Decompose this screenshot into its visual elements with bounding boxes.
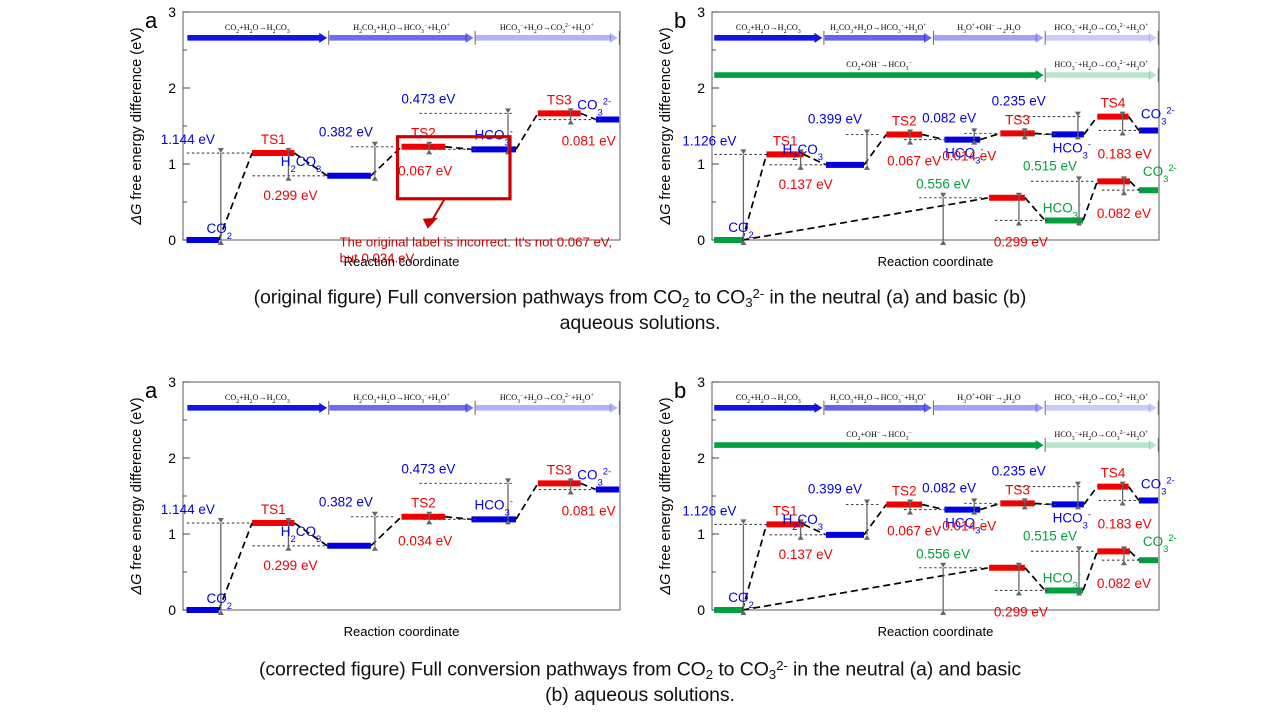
y-tick-label: 3 xyxy=(168,4,176,20)
energy-value-label: 0.399 eV xyxy=(808,482,862,497)
energy-value-label: 0.299 eV xyxy=(263,188,317,203)
energy-value-label: 0.515 eV xyxy=(1023,158,1077,173)
panel-letter: a xyxy=(145,8,158,33)
correction-note-line-2: but 0.034.eV xyxy=(340,251,415,266)
species-label-TS2: TS2 xyxy=(411,496,436,511)
species-label-TS4: TS4 xyxy=(1101,466,1126,481)
energy-value-label: 0.556 eV xyxy=(916,547,970,562)
species-label-TS1: TS1 xyxy=(261,132,286,147)
y-tick-label: 2 xyxy=(168,80,176,96)
energy-value-label: 0.067 eV xyxy=(398,163,452,178)
species-label-TS3: TS3 xyxy=(1005,482,1030,497)
x-axis-title: Reaction coordinate xyxy=(878,624,994,639)
panel-letter: b xyxy=(674,378,686,403)
y-tick-label: 0 xyxy=(697,602,705,618)
energy-value-label: 0.082 eV xyxy=(1097,206,1151,221)
energy-value-label: 0.299 eV xyxy=(994,234,1048,249)
energy-value-label: 0.399 eV xyxy=(808,112,862,127)
panel-b: 0123ΔG free energy difference (eV)Reacti… xyxy=(658,4,1177,269)
original-figure-caption: (original figure) Full conversion pathwa… xyxy=(0,285,1280,337)
energy-value-label: 0.137 eV xyxy=(779,547,833,562)
energy-value-label: 0.235 eV xyxy=(992,94,1046,109)
x-axis-title: Reaction coordinate xyxy=(878,254,994,269)
correction-note-line-1: The original label is incorrect. It's no… xyxy=(340,235,613,250)
y-tick-label: 0 xyxy=(168,232,176,248)
energy-value-label: 0.081 eV xyxy=(562,504,616,519)
energy-value-label: 0.473 eV xyxy=(401,461,455,476)
y-tick-label: 0 xyxy=(168,602,176,618)
panel-letter: b xyxy=(674,8,686,33)
energy-value-label: 0.183 eV xyxy=(1098,146,1152,161)
plot-frame xyxy=(712,12,1159,240)
species-label-TS2: TS2 xyxy=(892,114,917,129)
energy-value-label: 0.082 eV xyxy=(922,110,976,125)
y-tick-label: 1 xyxy=(697,526,705,542)
species-label-TS3: TS3 xyxy=(547,462,572,477)
original-figure: 0123ΔG free energy difference (eV)Reacti… xyxy=(0,0,1280,275)
y-tick-label: 3 xyxy=(168,374,176,390)
energy-value-label: 1.126 eV xyxy=(682,503,736,518)
species-label-TS2: TS2 xyxy=(411,126,436,141)
energy-value-label: 0.515 eV xyxy=(1023,528,1077,543)
energy-value-label: 1.126 eV xyxy=(682,133,736,148)
energy-value-label: 0.067 eV xyxy=(887,154,941,169)
energy-value-label: 0.235 eV xyxy=(992,464,1046,479)
panel-a: 0123ΔG free energy difference (eV)Reacti… xyxy=(129,374,620,639)
y-tick-label: 1 xyxy=(168,526,176,542)
energy-value-label: 0.137 eV xyxy=(779,177,833,192)
corrected-figure: 0123ΔG free energy difference (eV)Reacti… xyxy=(0,368,1280,643)
energy-value-label: 0.014 eV xyxy=(942,518,996,533)
y-tick-label: 2 xyxy=(697,80,705,96)
energy-value-label: 0.299 eV xyxy=(994,604,1048,619)
energy-value-label: 0.299 eV xyxy=(263,558,317,573)
plot-frame xyxy=(712,382,1159,610)
y-axis-title: ΔG free energy difference (eV) xyxy=(658,397,674,595)
panel-letter: a xyxy=(145,378,158,403)
species-label-TS1: TS1 xyxy=(261,502,286,517)
original-figure-svg: 0123ΔG free energy difference (eV)Reacti… xyxy=(0,0,1280,275)
corrected-figure-svg: 0123ΔG free energy difference (eV)Reacti… xyxy=(0,368,1280,643)
energy-value-label: 0.082 eV xyxy=(1097,576,1151,591)
species-label-TS3: TS3 xyxy=(547,92,572,107)
energy-value-label: 1.144 eV xyxy=(161,132,215,147)
energy-value-label: 0.081 eV xyxy=(562,134,616,149)
energy-value-label: 0.183 eV xyxy=(1098,516,1152,531)
y-axis-title: ΔG free energy difference (eV) xyxy=(658,27,674,225)
corrected-figure-caption: (corrected figure) Full conversion pathw… xyxy=(0,657,1280,709)
y-tick-label: 1 xyxy=(168,156,176,172)
energy-value-label: 0.382 eV xyxy=(319,495,373,510)
y-tick-label: 3 xyxy=(697,4,705,20)
species-label-TS3: TS3 xyxy=(1005,112,1030,127)
plot-frame xyxy=(183,382,620,610)
energy-value-label: 0.556 eV xyxy=(916,177,970,192)
y-tick-label: 2 xyxy=(168,450,176,466)
y-tick-label: 3 xyxy=(697,374,705,390)
panel-a: 0123ΔG free energy difference (eV)Reacti… xyxy=(129,4,620,269)
panel-b: 0123ΔG free energy difference (eV)Reacti… xyxy=(658,374,1177,639)
y-axis-title: ΔG free energy difference (eV) xyxy=(129,27,145,225)
caption-line-2: aqueous solutions. xyxy=(0,311,1280,337)
energy-value-label: 0.067 eV xyxy=(887,524,941,539)
energy-value-label: 0.082 eV xyxy=(922,480,976,495)
caption-line-1: (corrected figure) Full conversion pathw… xyxy=(0,657,1280,683)
energy-value-label: 0.014 eV xyxy=(942,148,996,163)
caption-line-2: (b) aqueous solutions. xyxy=(0,683,1280,709)
species-label-TS2: TS2 xyxy=(892,484,917,499)
y-axis-title: ΔG free energy difference (eV) xyxy=(129,397,145,595)
caption-line-1: (original figure) Full conversion pathwa… xyxy=(0,285,1280,311)
plot-frame xyxy=(183,12,620,240)
energy-value-label: 0.473 eV xyxy=(401,91,455,106)
y-tick-label: 2 xyxy=(697,450,705,466)
y-tick-label: 1 xyxy=(697,156,705,172)
y-tick-label: 0 xyxy=(697,232,705,248)
x-axis-title: Reaction coordinate xyxy=(344,624,460,639)
energy-value-label: 1.144 eV xyxy=(161,502,215,517)
energy-value-label: 0.034 eV xyxy=(398,533,452,548)
species-label-TS4: TS4 xyxy=(1101,96,1126,111)
energy-value-label: 0.382 eV xyxy=(319,125,373,140)
